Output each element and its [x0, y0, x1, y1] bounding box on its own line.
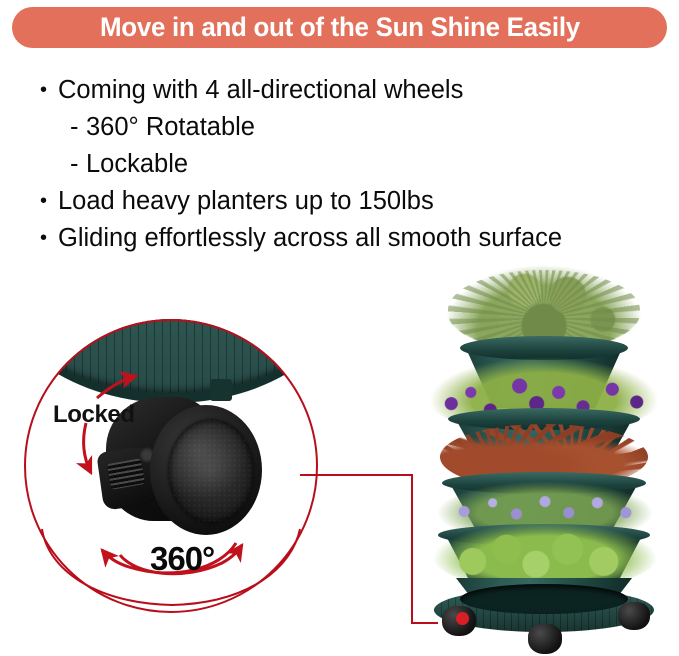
caddy-water-tray [460, 584, 628, 614]
list-item-label: 360° Rotatable [86, 109, 255, 146]
bullet-icon: • [40, 72, 58, 109]
list-item: • Load heavy planters up to 150lbs [40, 183, 670, 220]
bullet-icon: • [40, 183, 58, 220]
banner-title: Move in and out of the Sun Shine Easily [100, 12, 580, 43]
list-item: - Lockable [70, 146, 670, 183]
feature-list: • Coming with 4 all-directional wheels -… [40, 72, 670, 257]
rotation-label: 360° [150, 540, 214, 578]
caster-detail-callout: Locked 360° [24, 319, 320, 615]
rolling-caddy [434, 584, 654, 636]
list-item: - 360° Rotatable [70, 109, 670, 146]
list-item: • Gliding effortlessly across all smooth… [40, 220, 670, 257]
locked-label: Locked [53, 401, 135, 429]
header-banner: Move in and out of the Sun Shine Easily [12, 7, 667, 48]
caster-wheel-front [528, 624, 562, 654]
connector-endpoint-marker [456, 612, 469, 625]
dash-icon: - [70, 146, 86, 183]
list-item-label: Coming with 4 all-directional wheels [58, 72, 463, 109]
caster-wheel-right [618, 602, 650, 630]
list-item: • Coming with 4 all-directional wheels [40, 72, 670, 109]
bullet-icon: • [40, 220, 58, 257]
list-item-label: Load heavy planters up to 150lbs [58, 183, 434, 220]
product-image-planter-tower [418, 266, 670, 652]
list-item-label: Lockable [86, 146, 188, 183]
dash-icon: - [70, 109, 86, 146]
list-item-label: Gliding effortlessly across all smooth s… [58, 220, 562, 257]
